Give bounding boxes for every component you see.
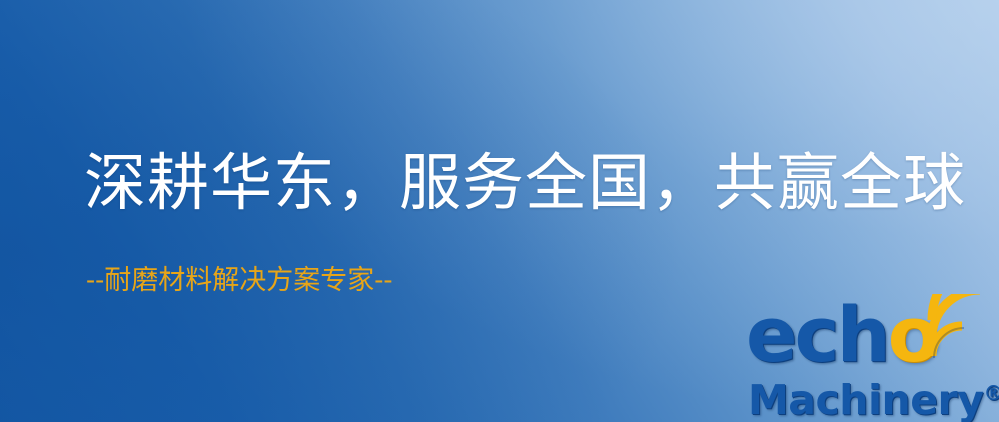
logo-company-name: Machinery® <box>748 370 999 422</box>
company-logo[interactable]: echo Machinery® <box>746 296 999 422</box>
banner-headline: 深耕华东，服务全国，共赢全球 <box>84 150 966 215</box>
registered-trademark-icon: ® <box>983 381 999 405</box>
logo-word-ech: ech <box>746 290 888 379</box>
banner-subtitle: --耐磨材料解决方案专家-- <box>86 265 393 297</box>
logo-wordmark: echo <box>746 296 946 374</box>
signal-waves-icon <box>926 294 999 360</box>
logo-company-text: Machinery <box>748 376 983 422</box>
hero-banner: 深耕华东，服务全国，共赢全球 --耐磨材料解决方案专家-- echo Machi… <box>0 0 999 422</box>
